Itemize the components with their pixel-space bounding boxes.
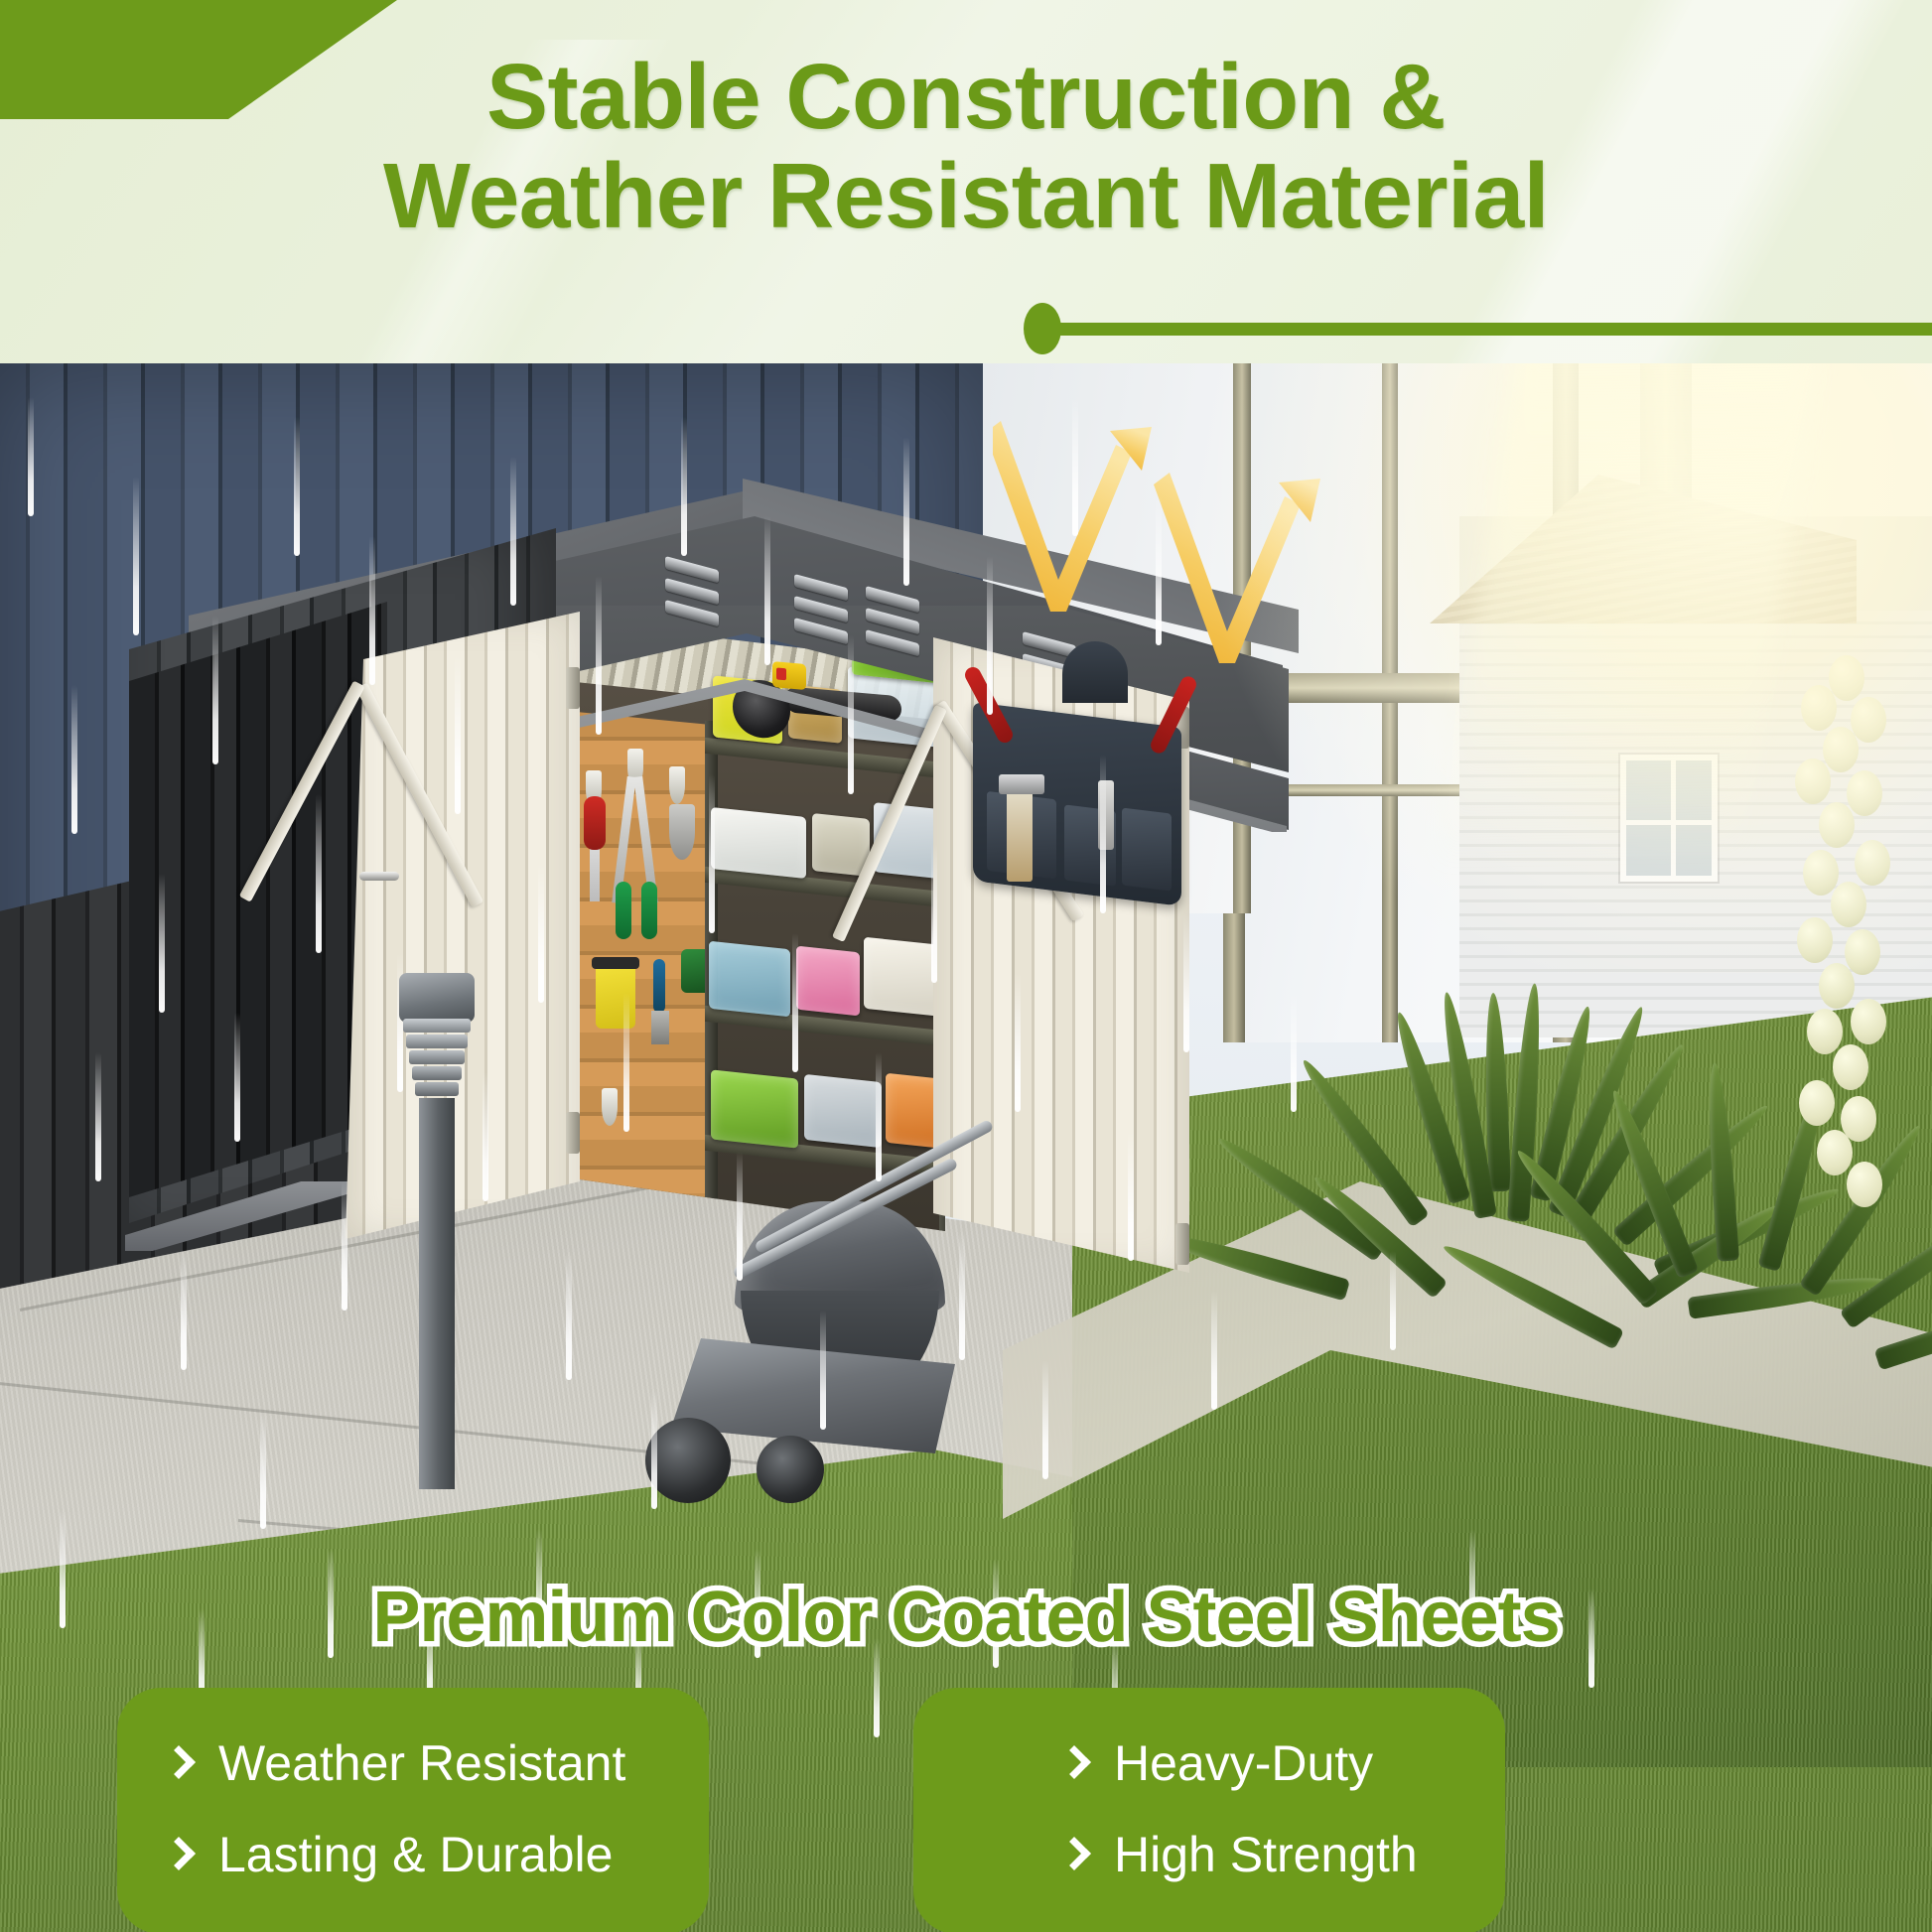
storage-shelving-unit [705, 721, 945, 1257]
cultivator-tines [651, 1011, 669, 1044]
product-feature-poster: Stable Construction & Weather Resistant … [0, 0, 1932, 1932]
neighbour-house-window [1620, 755, 1718, 882]
uv-arrow-2-body [1154, 473, 1301, 663]
garden-trowel-blade [669, 804, 695, 860]
title-line-2: Weather Resistant Material [0, 147, 1932, 246]
tool-hook [602, 1088, 618, 1126]
lopper-grip-left [616, 882, 631, 939]
door-right-hinge-bottom [1175, 1223, 1189, 1265]
feature-box-left: Weather Resistant Lasting & Durable [117, 1688, 709, 1932]
chevron-right-icon [165, 1835, 191, 1874]
lopper-grip-right [641, 882, 657, 939]
green-bin [711, 1069, 798, 1148]
uv-arrow-1-body [993, 421, 1132, 612]
feature-label: Lasting & Durable [218, 1826, 613, 1883]
apron-hammer-head [999, 774, 1044, 794]
page-title: Stable Construction & Weather Resistant … [0, 48, 1932, 245]
title-rule-line [1040, 323, 1932, 336]
red-handle-tool [584, 796, 606, 850]
white-box [864, 937, 945, 1018]
pink-bin [796, 946, 860, 1017]
header-banner: Stable Construction & Weather Resistant … [0, 0, 1932, 363]
apron-hammer-handle [1007, 786, 1033, 882]
glove-clip [592, 957, 639, 969]
folded-textiles [812, 813, 870, 877]
door-left-hinge-bottom [566, 1112, 580, 1154]
metal-storage-shed [139, 417, 1291, 1251]
feature-label: Weather Resistant [218, 1734, 625, 1792]
feature-item[interactable]: Heavy-Duty [961, 1718, 1457, 1809]
feature-item[interactable]: Lasting & Durable [165, 1809, 661, 1900]
feature-item[interactable]: High Strength [961, 1809, 1457, 1900]
white-bin [711, 807, 806, 879]
feature-label: Heavy-Duty [1114, 1734, 1373, 1792]
apron-screwdriver [1098, 780, 1114, 850]
feature-item[interactable]: Weather Resistant [165, 1718, 661, 1809]
outdoor-bollard-light [399, 973, 475, 1489]
mower-wheel-front [645, 1418, 731, 1503]
yucca-flower-stalk [1789, 655, 1908, 1211]
chevron-right-icon [1060, 1835, 1086, 1874]
blue-bin [709, 941, 790, 1018]
door-left-hinge-top [566, 667, 580, 709]
product-banner-text: Premium Color Coated Steel Sheets [0, 1577, 1932, 1658]
mower-wheel-rear [757, 1436, 824, 1503]
tool-hook [669, 766, 685, 804]
title-line-1: Stable Construction & [486, 45, 1446, 148]
yellow-gloves [596, 963, 635, 1029]
feature-label: High Strength [1114, 1826, 1418, 1883]
uv-reflection-arrows [993, 417, 1410, 675]
chevron-right-icon [1060, 1743, 1086, 1783]
door-left-handle[interactable] [359, 872, 399, 881]
chevron-right-icon [165, 1743, 191, 1783]
clear-bin [804, 1074, 882, 1148]
cultivator-handle [653, 959, 665, 1013]
feature-box-right: Heavy-Duty High Strength [913, 1688, 1505, 1932]
